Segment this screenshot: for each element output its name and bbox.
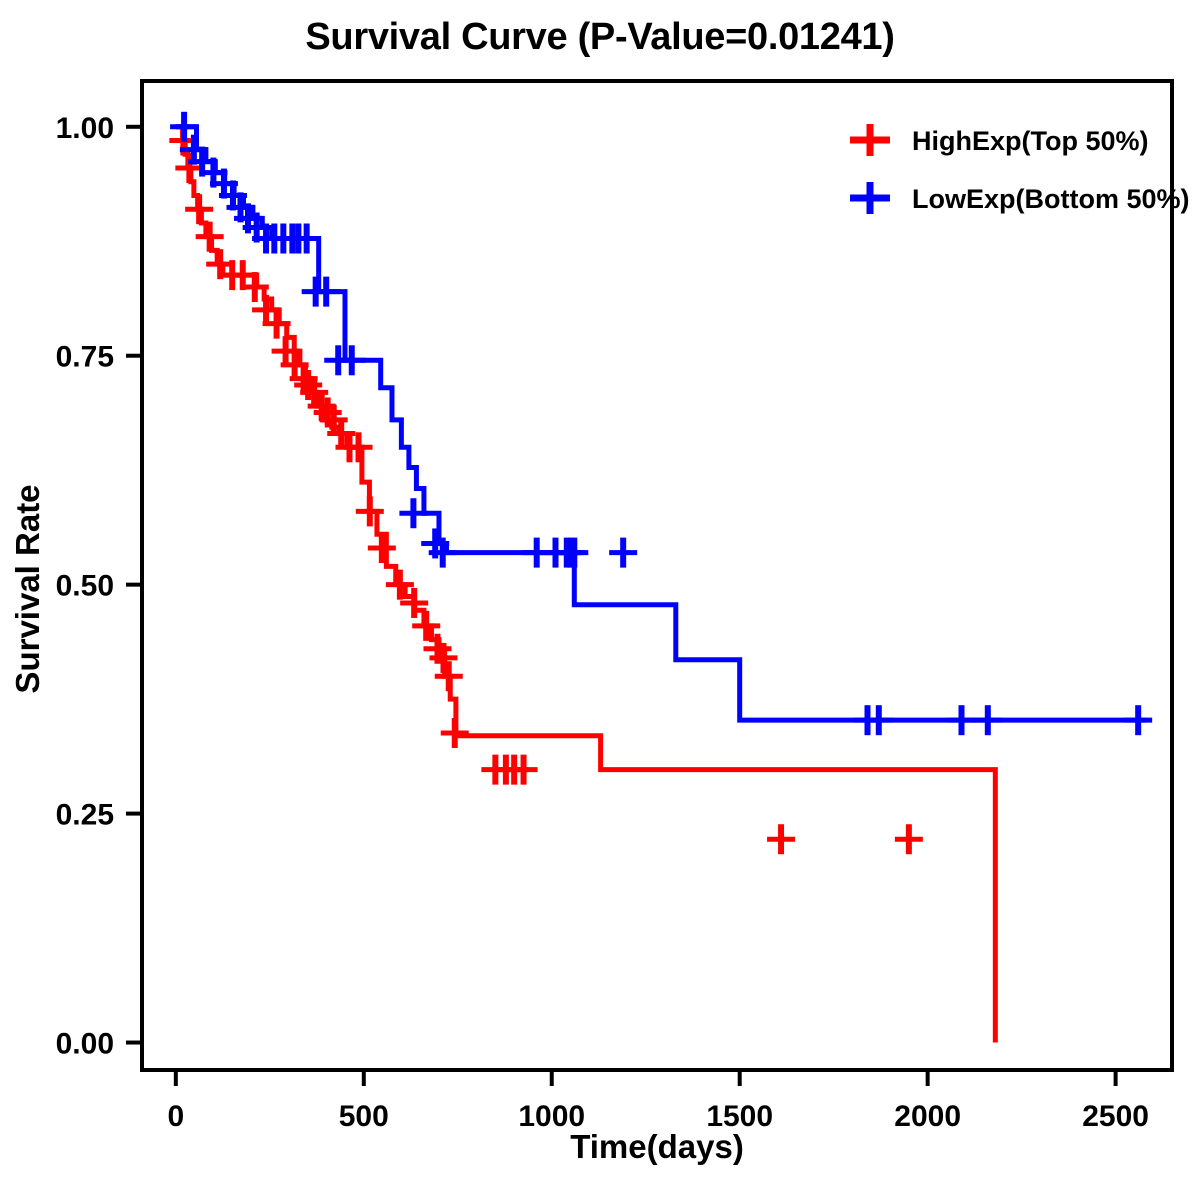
x-tick-label: 500 <box>339 1100 389 1133</box>
legend-item-low-exp[interactable]: LowExp(Bottom 50%) <box>850 182 1190 214</box>
x-tick-label: 2500 <box>1082 1100 1149 1133</box>
plot-area: 05001000150020002500 0.000.250.500.751.0… <box>0 0 1200 1200</box>
series-layer <box>169 112 1152 1043</box>
y-tick-label: 1.00 <box>56 112 114 145</box>
legend-label: LowExp(Bottom 50%) <box>912 184 1190 214</box>
legend-label: HighExp(Top 50%) <box>912 126 1149 156</box>
y-tick-label: 0.25 <box>56 799 114 832</box>
x-tick-label: 1500 <box>706 1100 773 1133</box>
y-axis-ticks: 0.000.250.500.751.00 <box>56 112 142 1061</box>
legend-item-high-exp[interactable]: HighExp(Top 50%) <box>850 124 1149 156</box>
x-tick-label: 2000 <box>894 1100 961 1133</box>
survival-curve-figure: Survival Curve (P-Value=0.01241) Surviva… <box>0 0 1200 1200</box>
y-tick-label: 0.50 <box>56 570 114 603</box>
curve-line <box>176 127 995 1043</box>
chart-legend: HighExp(Top 50%)LowExp(Bottom 50%) <box>850 124 1190 214</box>
x-tick-label: 0 <box>167 1100 184 1133</box>
x-tick-label: 1000 <box>518 1100 585 1133</box>
curve-line <box>176 127 1146 720</box>
y-tick-label: 0.00 <box>56 1028 114 1061</box>
y-tick-label: 0.75 <box>56 341 114 374</box>
x-axis-ticks: 05001000150020002500 <box>167 1070 1148 1133</box>
survival-curve-high-exp <box>169 126 995 1043</box>
